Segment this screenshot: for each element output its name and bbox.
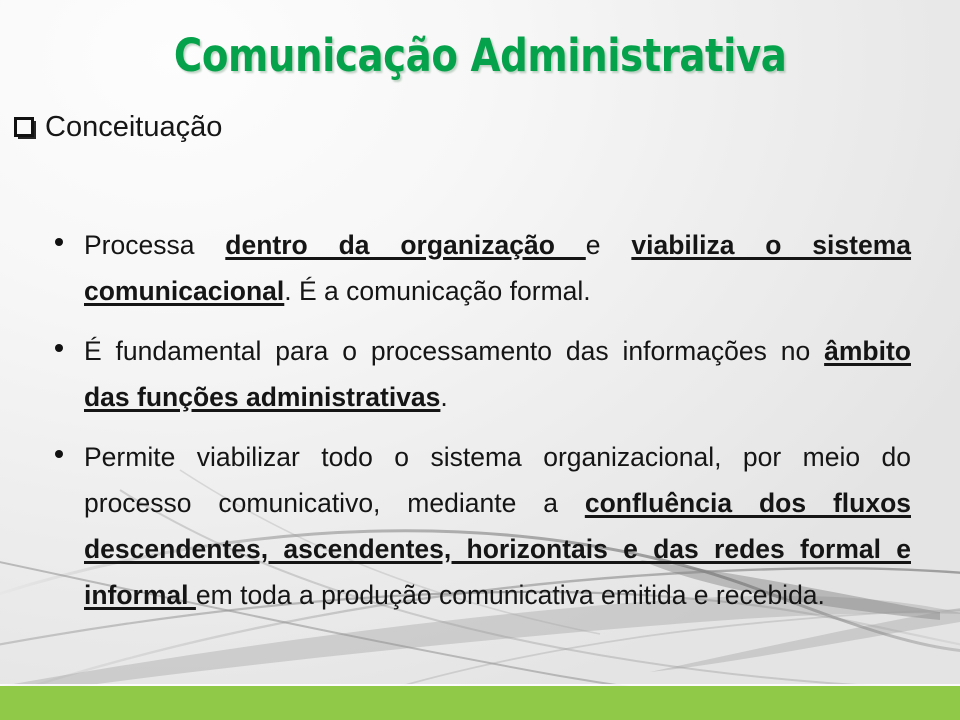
round-bullet-icon — [55, 450, 63, 458]
text-run: É fundamental para o processamento das i… — [84, 336, 824, 366]
list-item: É fundamental para o processamento das i… — [55, 328, 911, 420]
section-heading: Conceituação — [14, 110, 222, 144]
bullet-list: Processa dentro da organização e viabili… — [55, 222, 911, 632]
text-run: Processa — [84, 230, 225, 260]
text-run: dentro da organização — [225, 230, 585, 260]
round-bullet-icon — [55, 238, 63, 246]
hollow-square-bullet-icon — [14, 117, 34, 137]
text-run: em toda a produção comunicativa emitida … — [196, 580, 825, 610]
text-run: . É a comunicação formal. — [284, 276, 590, 306]
list-item: Processa dentro da organização e viabili… — [55, 222, 911, 314]
bottom-accent-bar — [0, 686, 960, 720]
slide-canvas: Comunicação Administrativa Conceituação … — [0, 0, 960, 720]
section-heading-label: Conceituação — [45, 110, 222, 144]
slide-title-text: Comunicação Administrativa — [174, 30, 787, 82]
slide-title: Comunicação Administrativa — [0, 30, 960, 82]
list-item-text: Permite viabilizar todo o sistema organi… — [84, 434, 911, 618]
list-item: Permite viabilizar todo o sistema organi… — [55, 434, 911, 618]
list-item-text: É fundamental para o processamento das i… — [84, 328, 911, 420]
round-bullet-icon — [55, 344, 63, 352]
text-run: . — [440, 382, 447, 412]
list-item-text: Processa dentro da organização e viabili… — [84, 222, 911, 314]
text-run: e — [586, 230, 632, 260]
